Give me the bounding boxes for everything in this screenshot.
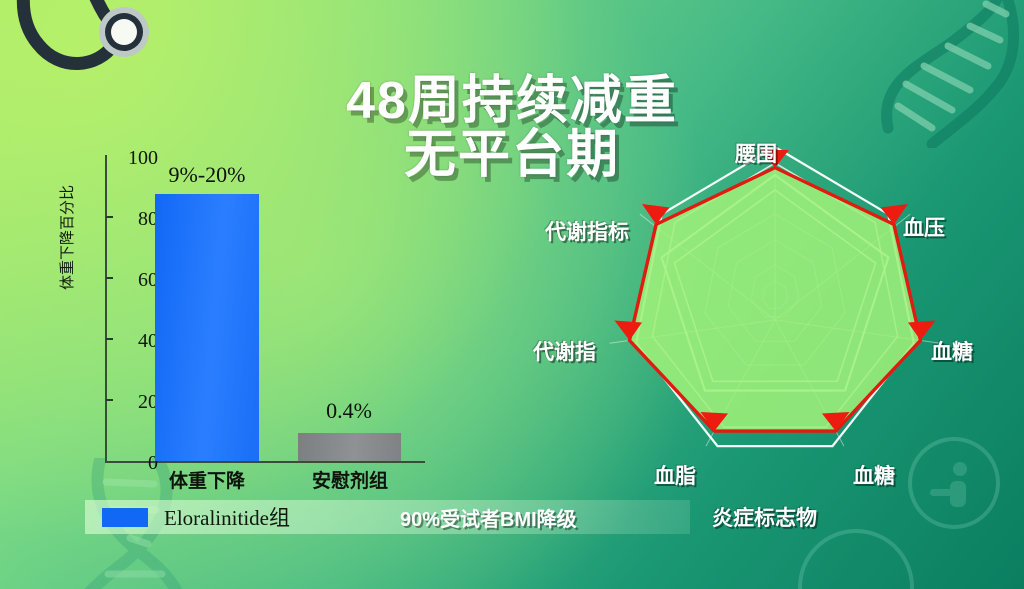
radar-label-metabolic-index: 代谢指标 — [545, 216, 629, 246]
legend-stat-text: 90%受试者BMI降级 — [400, 503, 577, 532]
x-category-1: 体重下降 — [140, 466, 274, 493]
radar-chart: 腰围 血压 血糖 血糖 血脂 代谢指 代谢指标 炎症标志物 — [522, 128, 1022, 488]
radar-label-blood-pressure: 血压 — [903, 212, 945, 242]
slide-canvas: 48周持续减重 无平台期 体重下降百分比 100 80 60 40 20 0 9… — [0, 0, 1024, 589]
legend-series-label: Eloralinitide组 — [164, 502, 290, 532]
bar-chart: 体重下降百分比 100 80 60 40 20 0 9%-20% 0.4% 体重… — [60, 140, 420, 485]
title-line-1: 48周持续减重 — [346, 72, 678, 130]
radar-label-waist: 腰围 — [735, 138, 777, 168]
bar-value-label-2: 0.4% — [288, 398, 410, 424]
x-category-2: 安慰剂组 — [285, 466, 415, 493]
stethoscope-icon — [0, 0, 182, 138]
radar-label-blood-glucose-lower: 血糖 — [853, 460, 895, 490]
dna-helix-icon — [860, 0, 1024, 148]
bar-value-label-1: 9%-20% — [143, 162, 271, 188]
radar-label-blood-glucose-right: 血糖 — [931, 336, 973, 366]
bar-eloralinitide[interactable] — [155, 194, 259, 461]
radar-label-inflammation-markers: 炎症标志物 — [712, 502, 817, 532]
radar-label-metabolic-left: 代谢指 — [533, 336, 596, 366]
radar-svg — [522, 128, 1022, 488]
legend-color-swatch — [102, 508, 148, 527]
radar-label-blood-lipids: 血脂 — [654, 460, 696, 490]
legend-bar: Eloralinitide组 90%受试者BMI降级 — [85, 500, 690, 534]
bar-placebo[interactable] — [298, 433, 401, 461]
